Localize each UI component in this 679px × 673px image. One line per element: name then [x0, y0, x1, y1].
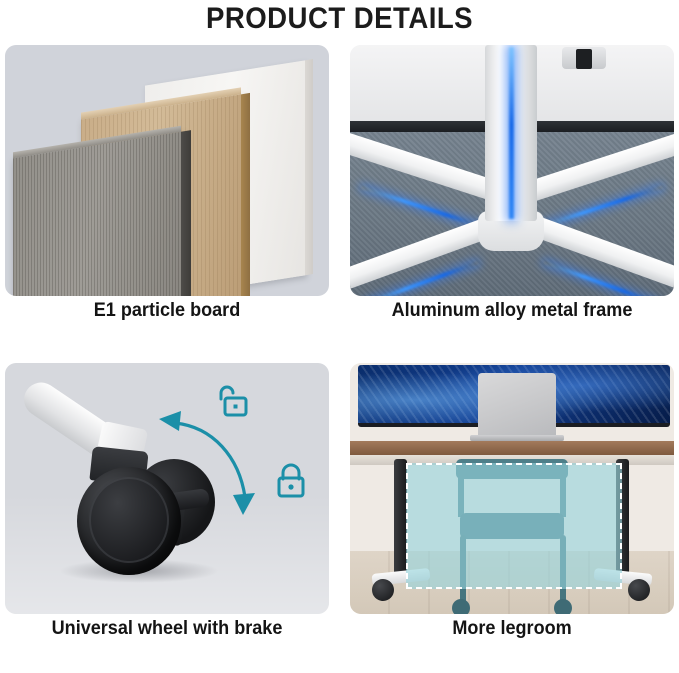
laptop	[478, 373, 556, 437]
legroom-highlight	[406, 463, 622, 589]
led-strip-column	[509, 47, 514, 219]
grey-board-edge	[181, 130, 191, 296]
desk-caster-right	[628, 579, 650, 601]
grey-board	[13, 132, 181, 296]
aluminum-frame-image	[350, 45, 674, 296]
product-details-infographic: PRODUCT DETAILS E1 particle board	[0, 0, 679, 673]
detail-cell-particle-board: E1 particle board	[5, 45, 329, 330]
caption-more-legroom: More legroom	[358, 618, 666, 640]
universal-wheel-image	[5, 363, 329, 614]
unlock-icon	[211, 381, 251, 421]
caption-universal-wheel: Universal wheel with brake	[13, 618, 321, 640]
detail-cell-universal-wheel: Universal wheel with brake	[5, 363, 329, 648]
caption-particle-board: E1 particle board	[13, 300, 321, 322]
mount-clip-dark	[576, 49, 592, 69]
more-legroom-image	[350, 363, 674, 614]
desk-caster-left	[372, 579, 394, 601]
tan-board-edge	[241, 93, 250, 296]
detail-cell-more-legroom: More legroom	[350, 363, 674, 648]
chair-caster-left	[452, 599, 470, 614]
white-board-edge	[305, 59, 313, 275]
detail-cell-aluminum-frame: Aluminum alloy metal frame	[350, 45, 674, 330]
chair-caster-right	[554, 599, 572, 614]
particle-board-image	[5, 45, 329, 296]
page-title: PRODUCT DETAILS	[27, 2, 652, 36]
details-grid: E1 particle board	[0, 45, 679, 673]
desktop-surface	[350, 441, 674, 455]
caption-aluminum-frame: Aluminum alloy metal frame	[358, 300, 666, 322]
lock-icon	[273, 461, 309, 501]
